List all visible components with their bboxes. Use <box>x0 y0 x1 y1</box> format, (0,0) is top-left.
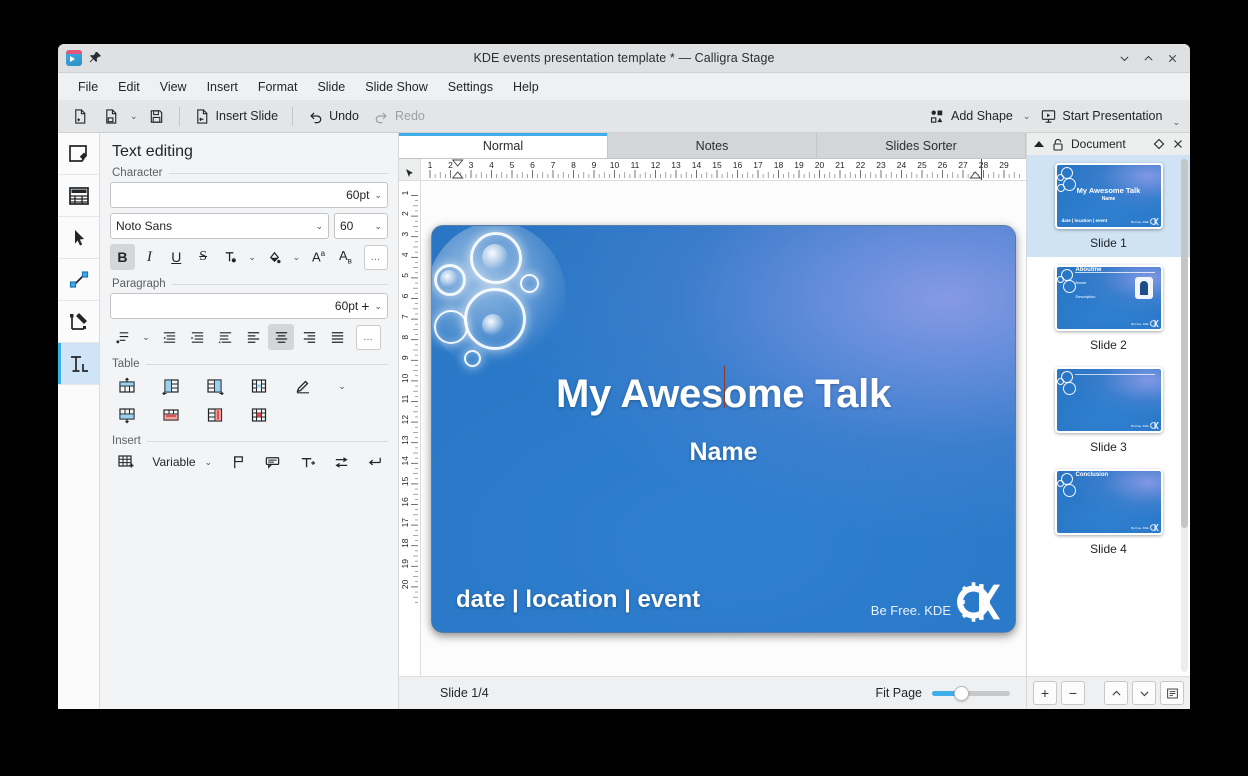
zoom-slider-handle[interactable] <box>954 686 969 701</box>
tool-shape-edit[interactable] <box>58 133 99 175</box>
slide-list-scrollbar[interactable] <box>1181 159 1188 672</box>
thumb-title: Conclusion <box>1076 472 1109 478</box>
text-color-button[interactable] <box>218 244 243 270</box>
svg-text:23: 23 <box>876 160 886 170</box>
thumb-tagline: Be Free. KDE <box>1131 424 1148 428</box>
svg-text:14: 14 <box>400 456 410 466</box>
thumb-title: Aboutme <box>1076 267 1102 273</box>
minimize-button[interactable] <box>1112 46 1136 70</box>
thumb-footer: date | location | event <box>1062 218 1108 223</box>
svg-text:19: 19 <box>794 160 804 170</box>
calligra-stage-icon <box>66 50 82 66</box>
svg-text:3: 3 <box>400 232 410 237</box>
canvas-row: 1234567891011121314151617181920 <box>399 181 1026 676</box>
svg-text:6: 6 <box>400 293 410 298</box>
kde-logo-icon <box>1150 319 1159 328</box>
horizontal-ruler[interactable]: 1234567891011121314151617181920212223242… <box>421 159 1026 181</box>
decoration-bubble <box>434 310 468 344</box>
delete-row-button[interactable] <box>158 403 184 427</box>
presentation-options-dropdown[interactable]: ⌄ <box>1170 117 1182 132</box>
tab-notes[interactable]: Notes <box>608 133 817 158</box>
align-right-button[interactable] <box>296 324 322 350</box>
delete-table-button[interactable] <box>246 403 272 427</box>
add-shape-button[interactable]: Add Shape <box>923 105 1019 128</box>
svg-text:29: 29 <box>999 160 1009 170</box>
thumb-title: My Awesome Talk <box>1057 186 1161 195</box>
chevron-down-icon: ⌄ <box>374 301 382 312</box>
save-document-button[interactable] <box>142 105 171 128</box>
application-window: KDE events presentation template * — Cal… <box>58 44 1190 709</box>
variable-label: Variable <box>152 455 195 469</box>
slide-label: Slide 2 <box>1090 338 1127 352</box>
thumb-body: Description <box>1076 294 1096 299</box>
document-docker-header: Document <box>1027 133 1190 155</box>
font-size-combo[interactable]: 60 ⌄ <box>334 213 388 239</box>
svg-text:10: 10 <box>400 373 410 383</box>
thumb-tagline: Be Free. KDE <box>1131 220 1148 224</box>
start-presentation-label: Start Presentation <box>1062 109 1162 123</box>
slide-label: Slide 3 <box>1090 440 1127 454</box>
insert-column-right-button[interactable] <box>202 374 228 398</box>
tab-slides-sorter[interactable]: Slides Sorter <box>817 133 1026 158</box>
text-editing-docker: Text editing Character 60pt ⌄ Noto Sans … <box>100 133 399 709</box>
zoom-slider[interactable] <box>932 691 1010 696</box>
window-title: KDE events presentation template * — Cal… <box>58 51 1190 65</box>
slide-thumbnail: My Awesome Talk Name date | location | e… <box>1055 163 1163 229</box>
svg-text:11: 11 <box>400 394 410 403</box>
menu-help[interactable]: Help <box>503 77 549 97</box>
ruler-corner <box>399 159 421 181</box>
increase-indent-button[interactable] <box>184 324 210 350</box>
insert-annotation-button[interactable] <box>260 450 284 474</box>
main-body: Text editing Character 60pt ⌄ Noto Sans … <box>58 133 1190 709</box>
kde-logo-icon <box>1150 217 1159 226</box>
slide-options-button[interactable] <box>1160 681 1184 705</box>
insert-section-label: Insert <box>112 435 388 447</box>
svg-text:18: 18 <box>400 538 410 548</box>
undo-label: Undo <box>329 109 359 123</box>
slide-thumbnail: Aboutme Name Description Be Free. KDE <box>1055 265 1163 331</box>
insert-row-below-button[interactable] <box>114 403 140 427</box>
svg-text:15: 15 <box>712 160 722 170</box>
ruler-row: 1234567891011121314151617181920212223242… <box>399 159 1026 181</box>
insert-slide-label: Insert Slide <box>216 109 279 123</box>
list-style-button[interactable] <box>110 324 136 350</box>
close-button[interactable] <box>1160 46 1184 70</box>
thumb-tagline: Be Free. KDE <box>1131 322 1148 326</box>
svg-text:1: 1 <box>428 160 433 170</box>
tool-connection[interactable] <box>58 259 99 301</box>
docker-title: Text editing <box>112 143 388 161</box>
triangle-up-icon[interactable] <box>1033 138 1045 150</box>
title-bar: KDE events presentation template * — Cal… <box>58 44 1190 73</box>
list-item[interactable]: Be Free. KDE Slide 3 <box>1027 359 1190 461</box>
start-presentation-button[interactable]: Start Presentation <box>1034 105 1168 128</box>
chevron-down-icon: ⌄ <box>374 190 382 201</box>
svg-text:24: 24 <box>897 160 907 170</box>
view-tab-bar: Normal Notes Slides Sorter <box>399 133 1026 159</box>
align-left-button[interactable] <box>240 324 266 350</box>
character-style-combo[interactable]: 60pt ⌄ <box>110 182 388 208</box>
subscript-button[interactable]: Aв <box>333 244 358 270</box>
thumb-tagline: Be Free. KDE <box>1131 526 1148 530</box>
align-justify-button[interactable] <box>324 324 350 350</box>
insert-nonbreaking-space-button[interactable] <box>329 450 353 474</box>
remove-slide-button[interactable]: − <box>1061 681 1085 705</box>
menu-file[interactable]: File <box>68 77 108 97</box>
text-cursor-caret <box>724 366 726 408</box>
main-toolbar: ⌄ Insert Slide Undo Redo Add Shape ⌄ Sta… <box>58 100 1190 133</box>
slide-thumbnail: Be Free. KDE <box>1055 367 1163 433</box>
document-docker-title: Document <box>1071 137 1146 151</box>
svg-text:3: 3 <box>469 160 474 170</box>
insert-column-left-button[interactable] <box>158 374 184 398</box>
bold-button[interactable]: B <box>110 244 135 270</box>
svg-text:18: 18 <box>774 160 784 170</box>
svg-text:19: 19 <box>400 559 410 569</box>
slide-label: Slide 1 <box>1090 236 1127 250</box>
insert-variable-button[interactable]: Variable ⌄ <box>148 452 216 472</box>
list-item[interactable]: Aboutme Name Description Be Free. KDE Sl… <box>1027 257 1190 359</box>
tool-text[interactable] <box>58 343 99 385</box>
menu-format[interactable]: Format <box>248 77 308 97</box>
insert-slide-button[interactable]: Insert Slide <box>188 105 285 128</box>
character-style-value: 60pt <box>116 188 369 202</box>
vertical-ruler[interactable]: 1234567891011121314151617181920 <box>399 181 421 676</box>
scrollbar-thumb[interactable] <box>1181 159 1188 528</box>
paragraph-section-label: Paragraph <box>112 278 388 290</box>
svg-text:5: 5 <box>510 160 515 170</box>
add-shape-dropdown[interactable]: ⌄ <box>1021 111 1033 122</box>
insert-line-break-button[interactable] <box>364 450 388 474</box>
decoration-bubble <box>520 274 539 293</box>
svg-text:10: 10 <box>610 160 620 170</box>
add-shape-label: Add Shape <box>951 109 1013 123</box>
svg-text:20: 20 <box>815 160 825 170</box>
kde-logo-icon <box>1150 421 1159 430</box>
slide-footer-text[interactable]: date | location | event <box>456 586 700 614</box>
paragraph-more-button[interactable]: … <box>356 325 381 350</box>
kde-logo-icon <box>957 580 1001 624</box>
svg-text:5: 5 <box>400 273 410 278</box>
table-border-dropdown[interactable]: ⌄ <box>334 373 350 399</box>
decoration-bubble <box>464 350 481 367</box>
svg-text:4: 4 <box>489 160 494 170</box>
slide-list[interactable]: My Awesome Talk Name date | location | e… <box>1027 155 1190 676</box>
svg-text:21: 21 <box>835 160 845 170</box>
tool-select[interactable] <box>58 217 99 259</box>
kde-logo-icon <box>1150 523 1159 532</box>
menu-slide-show[interactable]: Slide Show <box>355 77 438 97</box>
chevron-down-icon: ⌄ <box>205 457 213 468</box>
menu-edit[interactable]: Edit <box>108 77 150 97</box>
italic-button[interactable]: I <box>137 244 162 270</box>
center-area: Normal Notes Slides Sorter 1234567891011… <box>399 133 1026 709</box>
svg-text:26: 26 <box>938 160 948 170</box>
svg-text:7: 7 <box>551 160 556 170</box>
svg-text:27: 27 <box>958 160 968 170</box>
font-size-value: 60 <box>340 219 369 233</box>
svg-text:16: 16 <box>400 497 410 507</box>
svg-text:2: 2 <box>400 211 410 216</box>
svg-text:4: 4 <box>400 252 410 257</box>
menu-insert[interactable]: Insert <box>197 77 248 97</box>
svg-text:9: 9 <box>592 160 597 170</box>
svg-text:20: 20 <box>400 579 410 589</box>
highlight-color-button[interactable] <box>262 244 287 270</box>
slide-editor[interactable]: My Awesome Talk Name date | location | e… <box>431 225 1016 633</box>
slide-tagline-text: Be Free. KDE <box>871 603 951 618</box>
text-color-dropdown[interactable]: ⌄ <box>245 244 260 270</box>
decrease-indent-button[interactable] <box>156 324 182 350</box>
slide-list-toolbar: + − <box>1027 676 1190 709</box>
strikethrough-button[interactable]: S <box>191 244 216 270</box>
menu-settings[interactable]: Settings <box>438 77 503 97</box>
merge-cells-button[interactable] <box>246 374 272 398</box>
redo-label: Redo <box>395 109 425 123</box>
svg-text:8: 8 <box>400 335 410 340</box>
svg-text:1: 1 <box>400 190 410 195</box>
list-item[interactable]: Conclusion Be Free. KDE Slide 4 <box>1027 461 1190 563</box>
tab-normal[interactable]: Normal <box>399 133 608 158</box>
slide-thumbnail: Conclusion Be Free. KDE <box>1055 469 1163 535</box>
status-bar: Slide 1/4 Fit Page <box>399 676 1026 709</box>
menu-bar: File Edit View Insert Format Slide Slide… <box>58 73 1190 100</box>
svg-text:6: 6 <box>530 160 535 170</box>
new-document-button[interactable] <box>66 105 95 128</box>
redo-button[interactable]: Redo <box>367 105 431 128</box>
toolbar-separator <box>179 107 180 126</box>
add-paragraph-style-icon[interactable]: + <box>361 298 369 314</box>
svg-text:25: 25 <box>917 160 927 170</box>
chevron-down-icon: ⌄ <box>374 221 382 232</box>
change-indent-button[interactable] <box>212 324 238 350</box>
insert-row-above-button[interactable] <box>114 374 140 398</box>
character-section-label: Character <box>112 167 388 179</box>
pin-icon[interactable] <box>88 51 102 65</box>
insert-bookmark-button[interactable] <box>226 450 250 474</box>
svg-text:15: 15 <box>400 476 410 486</box>
superscript-button[interactable]: Aa <box>306 244 331 270</box>
chevron-down-icon: ⌄ <box>315 221 323 232</box>
svg-text:7: 7 <box>400 314 410 319</box>
tool-slides-layout[interactable] <box>58 175 99 217</box>
slide-label: Slide 4 <box>1090 542 1127 556</box>
font-family-combo[interactable]: Noto Sans ⌄ <box>110 213 329 239</box>
open-recent-dropdown[interactable]: ⌄ <box>128 111 140 122</box>
align-center-button[interactable] <box>268 324 294 350</box>
svg-text:17: 17 <box>400 518 410 528</box>
maximize-button[interactable] <box>1136 46 1160 70</box>
highlight-color-dropdown[interactable]: ⌄ <box>289 244 304 270</box>
svg-text:12: 12 <box>400 415 410 425</box>
svg-text:9: 9 <box>400 355 410 360</box>
slide-subtitle-text[interactable]: Name <box>432 438 1015 467</box>
move-slide-up-button[interactable] <box>1104 681 1128 705</box>
undo-button[interactable]: Undo <box>301 105 365 128</box>
svg-text:13: 13 <box>671 160 681 170</box>
paragraph-style-combo[interactable]: 60pt + ⌄ <box>110 293 388 319</box>
list-style-dropdown[interactable]: ⌄ <box>138 324 154 350</box>
svg-text:12: 12 <box>651 160 661 170</box>
slide-indicator: Slide 1/4 <box>440 686 489 700</box>
svg-text:22: 22 <box>856 160 866 170</box>
zoom-label[interactable]: Fit Page <box>875 686 922 700</box>
svg-text:11: 11 <box>631 160 640 170</box>
tool-path-edit[interactable] <box>58 301 99 343</box>
toolbar-separator-2 <box>292 107 293 126</box>
document-docker: Document My Awesome Talk Name <box>1026 133 1190 709</box>
svg-text:16: 16 <box>733 160 743 170</box>
table-section-label: Table <box>112 358 388 370</box>
paragraph-style-value: 60pt <box>116 299 358 313</box>
font-family-value: Noto Sans <box>116 219 310 233</box>
svg-text:17: 17 <box>753 160 763 170</box>
lock-icon[interactable] <box>1052 138 1064 151</box>
underline-button[interactable]: U <box>164 244 189 270</box>
float-diamond-icon[interactable] <box>1153 138 1165 150</box>
menu-view[interactable]: View <box>150 77 197 97</box>
table-border-pen-button[interactable] <box>290 374 316 398</box>
svg-text:8: 8 <box>571 160 576 170</box>
delete-column-button[interactable] <box>202 403 228 427</box>
svg-text:2: 2 <box>448 160 453 170</box>
move-slide-down-button[interactable] <box>1132 681 1156 705</box>
list-item[interactable]: My Awesome Talk Name date | location | e… <box>1027 155 1190 257</box>
thumb-subtitle: Name <box>1076 280 1087 285</box>
svg-text:28: 28 <box>979 160 989 170</box>
slide-canvas[interactable]: My Awesome Talk Name date | location | e… <box>421 181 1026 676</box>
open-document-button[interactable] <box>97 105 126 128</box>
tool-strip <box>58 133 100 709</box>
thumb-subtitle: Name <box>1057 196 1161 202</box>
add-slide-button[interactable]: + <box>1033 681 1057 705</box>
svg-text:14: 14 <box>692 160 702 170</box>
close-icon[interactable] <box>1172 138 1184 150</box>
insert-special-char-button[interactable] <box>295 450 319 474</box>
insert-table-button[interactable] <box>114 450 138 474</box>
svg-text:13: 13 <box>400 435 410 445</box>
character-more-button[interactable]: … <box>364 245 388 270</box>
menu-slide[interactable]: Slide <box>307 77 355 97</box>
